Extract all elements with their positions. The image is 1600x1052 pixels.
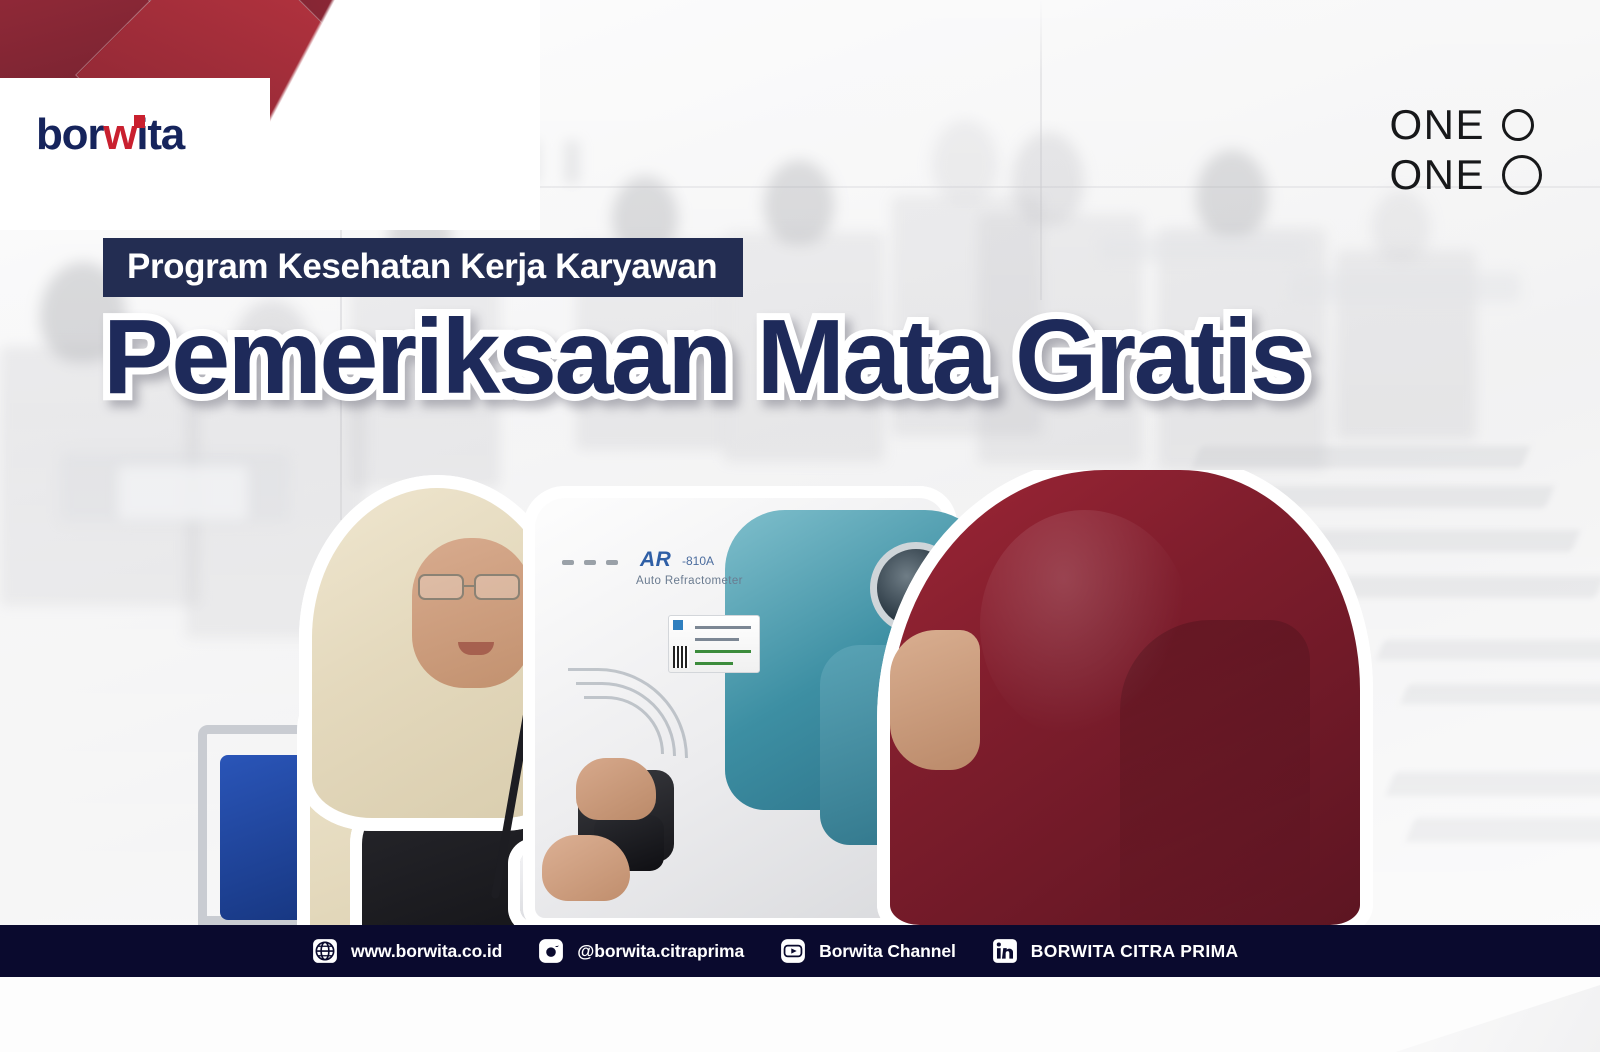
refractometer-indicator-dots — [562, 560, 632, 566]
eyebrow-text: Program Kesehatan Kerja Karyawan — [127, 247, 717, 286]
partner-logo-ring-1 — [1502, 109, 1534, 141]
practitioner-hand-upper — [576, 758, 656, 820]
linkedin-icon — [992, 938, 1018, 964]
partner-logo-ring-2 — [1502, 155, 1542, 195]
patient-hijab-fold — [1120, 620, 1310, 920]
patient-face — [890, 630, 980, 770]
borwita-logo-icon: borwita — [36, 113, 184, 157]
page-title: Pemeriksaan Mata Gratis — [103, 300, 1306, 414]
footer-label-website: www.borwita.co.id — [351, 941, 502, 962]
practitioner-hand-lower — [542, 835, 630, 901]
footer-item-youtube[interactable]: Borwita Channel — [780, 938, 956, 964]
borwita-logo-card: borwita — [0, 78, 270, 191]
foreground-cutout-photo: AR -810A Auto Refractometer — [190, 470, 1380, 925]
device-type-text: Auto Refractometer — [636, 575, 743, 587]
logo-text-bor: bor — [36, 110, 103, 159]
footer-item-linkedin[interactable]: BORWITA CITRA PRIMA — [992, 938, 1239, 964]
logo-text-w: w — [103, 110, 136, 159]
footer-label-instagram: @borwita.citraprima — [577, 941, 744, 962]
eyebrow-banner: Program Kesehatan Kerja Karyawan — [103, 238, 743, 297]
device-spec-label — [668, 615, 760, 673]
youtube-icon — [780, 938, 806, 964]
footer-label-linkedin: BORWITA CITRA PRIMA — [1031, 941, 1239, 962]
partner-logo-line2: ONE — [1389, 154, 1485, 196]
partner-logo-line1: ONE — [1389, 104, 1485, 146]
logo-red-tick — [134, 115, 145, 128]
device-model-text: -810A — [682, 554, 714, 568]
footer-item-instagram[interactable]: @borwita.citraprima — [538, 938, 744, 964]
bottom-white-strip — [0, 977, 1600, 1052]
practitioner-face — [412, 538, 532, 688]
footer-item-website[interactable]: www.borwita.co.id — [312, 938, 502, 964]
poster-canvas: borwita ONE ONE — [0, 0, 1600, 1052]
footer-bar: www.borwita.co.id @borwita.citraprima Bo… — [0, 925, 1600, 977]
practitioner-glasses-icon — [418, 574, 530, 600]
one-o-one-o-logo: ONE ONE — [1389, 100, 1542, 200]
footer-label-youtube: Borwita Channel — [819, 941, 956, 962]
instagram-icon — [538, 938, 564, 964]
globe-icon — [312, 938, 338, 964]
device-brand-text: AR — [640, 548, 671, 572]
